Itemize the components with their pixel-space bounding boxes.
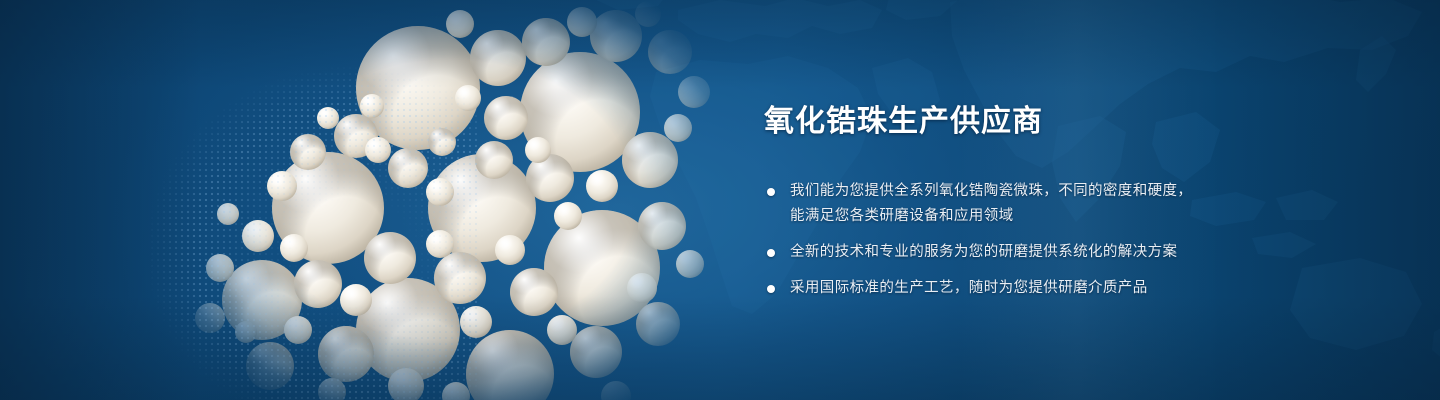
- banner-headline: 氧化锆珠生产供应商: [764, 104, 1384, 141]
- bullet-text-line: 能满足您各类研磨设备和应用领域: [790, 204, 1384, 229]
- list-item: 我们能为您提供全系列氧化锆陶瓷微珠，不同的密度和硬度， 能满足您各类研磨设备和应…: [764, 179, 1384, 229]
- list-item: 采用国际标准的生产工艺，随时为您提供研磨介质产品: [764, 276, 1384, 301]
- bullet-text-line: 我们能为您提供全系列氧化锆陶瓷微珠，不同的密度和硬度，: [790, 179, 1384, 204]
- bullet-text-line: 采用国际标准的生产工艺，随时为您提供研磨介质产品: [790, 276, 1384, 301]
- bullet-dot-icon: [767, 249, 775, 257]
- list-item: 全新的技术和专业的服务为您的研磨提供系统化的解决方案: [764, 240, 1384, 265]
- bullet-text-line: 全新的技术和专业的服务为您的研磨提供系统化的解决方案: [790, 240, 1384, 265]
- banner-copy: 氧化锆珠生产供应商 我们能为您提供全系列氧化锆陶瓷微珠，不同的密度和硬度， 能满…: [764, 104, 1384, 301]
- hero-banner: 氧化锆珠生产供应商 我们能为您提供全系列氧化锆陶瓷微珠，不同的密度和硬度， 能满…: [0, 0, 1440, 400]
- bullet-dot-icon: [767, 285, 775, 293]
- bullet-dot-icon: [767, 188, 775, 196]
- banner-feature-list: 我们能为您提供全系列氧化锆陶瓷微珠，不同的密度和硬度， 能满足您各类研磨设备和应…: [764, 179, 1384, 301]
